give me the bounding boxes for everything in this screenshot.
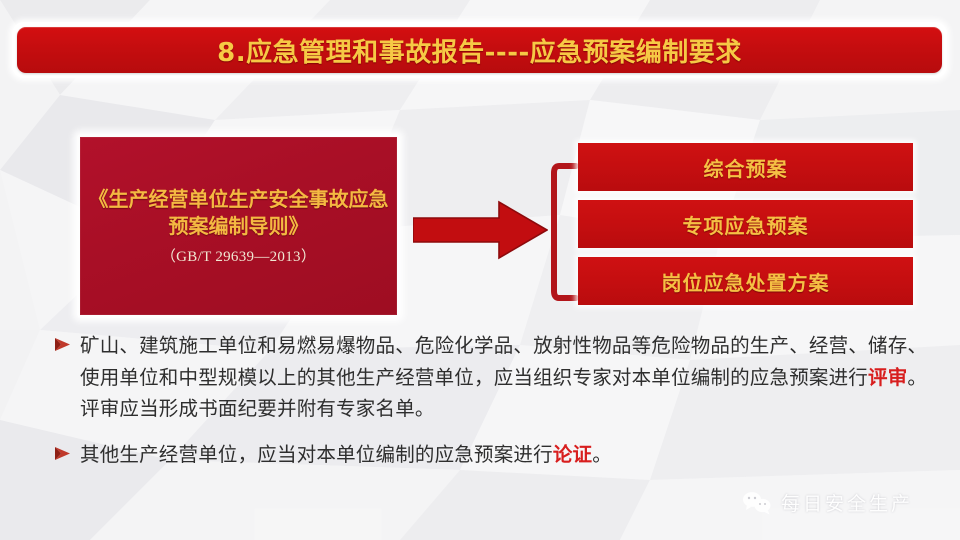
title-banner: 8.应急管理和事故报告----应急预案编制要求: [12, 22, 947, 78]
watermark: 每日安全生产: [742, 489, 913, 516]
bullet-text: 矿山、建筑施工单位和易燃易爆物品、危险化学品、放射性物品等危险物品的生产、经营、…: [80, 330, 934, 425]
page-title: 8.应急管理和事故报告----应急预案编制要求: [217, 32, 742, 69]
plan-label: 专项应急预案: [683, 210, 809, 239]
plan-label: 综合预案: [704, 153, 788, 182]
bullet-segment: 矿山、建筑施工单位和易燃易爆物品、危险化学品、放射性物品等危险物品的生产、经营、…: [80, 334, 927, 389]
bullet-list: 矿山、建筑施工单位和易燃易爆物品、危险化学品、放射性物品等危险物品的生产、经营、…: [54, 330, 934, 484]
plan-box-comprehensive[interactable]: 综合预案: [578, 143, 913, 191]
standard-title: 《生产经营单位生产安全事故应急预案编制导则》: [80, 186, 397, 239]
left-brace-icon: [550, 162, 580, 302]
title-banner-inner: 8.应急管理和事故报告----应急预案编制要求: [17, 27, 942, 73]
wechat-icon: [742, 491, 772, 515]
arrow-right-icon: [413, 200, 548, 260]
plan-box-post[interactable]: 岗位应急处置方案: [578, 257, 913, 305]
chevron-right-bullet-icon: [54, 439, 80, 466]
bullet-text: 其他生产经营单位，应当对本单位编制的应急预案进行论证。: [80, 439, 934, 471]
slide-canvas: 8.应急管理和事故报告----应急预案编制要求 《生产经营单位生产安全事故应急预…: [0, 0, 960, 540]
watermark-text: 每日安全生产: [781, 489, 913, 516]
bullet-highlight: 评审: [868, 366, 907, 389]
plan-box-special[interactable]: 专项应急预案: [578, 200, 913, 248]
plan-label: 岗位应急处置方案: [662, 267, 830, 296]
standard-card: 《生产经营单位生产安全事故应急预案编制导则》 （GB/T 29639—2013）: [80, 137, 397, 315]
bullet-segment: 。: [592, 443, 612, 466]
list-item: 其他生产经营单位，应当对本单位编制的应急预案进行论证。: [54, 439, 934, 471]
bullet-segment: 其他生产经营单位，应当对本单位编制的应急预案进行: [80, 443, 553, 466]
list-item: 矿山、建筑施工单位和易燃易爆物品、危险化学品、放射性物品等危险物品的生产、经营、…: [54, 330, 934, 425]
bullet-highlight: 论证: [553, 443, 592, 466]
standard-code: （GB/T 29639—2013）: [161, 245, 316, 266]
chevron-right-bullet-icon: [54, 330, 80, 357]
